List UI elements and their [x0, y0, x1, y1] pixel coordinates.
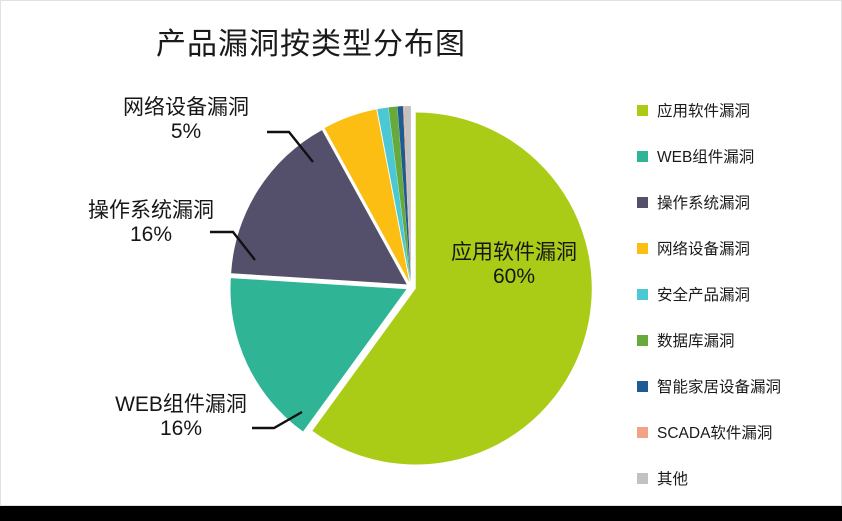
- legend-item[interactable]: 操作系统漏洞: [637, 179, 842, 225]
- legend-color-swatch: [637, 243, 648, 254]
- pie-label-name: 操作系统漏洞: [56, 199, 246, 223]
- pie-label-network-device: 网络设备漏洞 5%: [91, 96, 281, 145]
- pie-label-percent: 16%: [86, 417, 276, 441]
- legend-item-label: SCADA软件漏洞: [657, 421, 772, 443]
- legend-item-label: 数据库漏洞: [657, 329, 735, 351]
- pie-label-name: 应用软件漏洞: [419, 241, 609, 265]
- chart-frame: 产品漏洞按类型分布图 应用软件漏洞 60% 网络设备漏洞 5% 操作系统漏洞 1…: [0, 0, 842, 506]
- bottom-black-band: [0, 506, 842, 521]
- legend-color-swatch: [637, 197, 648, 208]
- legend-item-label: WEB组件漏洞: [657, 145, 754, 167]
- legend-color-swatch: [637, 289, 648, 300]
- legend-item-label: 应用软件漏洞: [657, 99, 750, 121]
- pie-plot-area: 应用软件漏洞 60% 网络设备漏洞 5% 操作系统漏洞 16% WEB组件漏洞 …: [1, 1, 631, 507]
- legend-item[interactable]: SCADA软件漏洞: [637, 409, 842, 455]
- legend-item-label: 网络设备漏洞: [657, 237, 750, 259]
- legend-item-label: 操作系统漏洞: [657, 191, 750, 213]
- legend-item[interactable]: 应用软件漏洞: [637, 87, 842, 133]
- legend-item-label: 其他: [657, 467, 688, 489]
- legend-item[interactable]: 智能家居设备漏洞: [637, 363, 842, 409]
- legend-color-swatch: [637, 381, 648, 392]
- legend-item[interactable]: 数据库漏洞: [637, 317, 842, 363]
- pie-label-percent: 60%: [419, 265, 609, 289]
- pie-label-operating-system: 操作系统漏洞 16%: [56, 199, 246, 248]
- legend-item-label: 安全产品漏洞: [657, 283, 750, 305]
- legend-item[interactable]: 其他: [637, 455, 842, 501]
- legend-item[interactable]: WEB组件漏洞: [637, 133, 842, 179]
- legend-item[interactable]: 安全产品漏洞: [637, 271, 842, 317]
- legend-color-swatch: [637, 473, 648, 484]
- chart-legend: 应用软件漏洞WEB组件漏洞操作系统漏洞网络设备漏洞安全产品漏洞数据库漏洞智能家居…: [637, 87, 842, 501]
- pie-label-application-software: 应用软件漏洞 60%: [419, 241, 609, 290]
- pie-label-percent: 5%: [91, 120, 281, 144]
- pie-label-web-component: WEB组件漏洞 16%: [86, 393, 276, 442]
- legend-color-swatch: [637, 335, 648, 346]
- pie-label-percent: 16%: [56, 223, 246, 247]
- pie-label-name: 网络设备漏洞: [91, 96, 281, 120]
- legend-item[interactable]: 网络设备漏洞: [637, 225, 842, 271]
- legend-color-swatch: [637, 105, 648, 116]
- pie-label-name: WEB组件漏洞: [86, 393, 276, 417]
- legend-color-swatch: [637, 151, 648, 162]
- legend-color-swatch: [637, 427, 648, 438]
- legend-item-label: 智能家居设备漏洞: [657, 375, 781, 397]
